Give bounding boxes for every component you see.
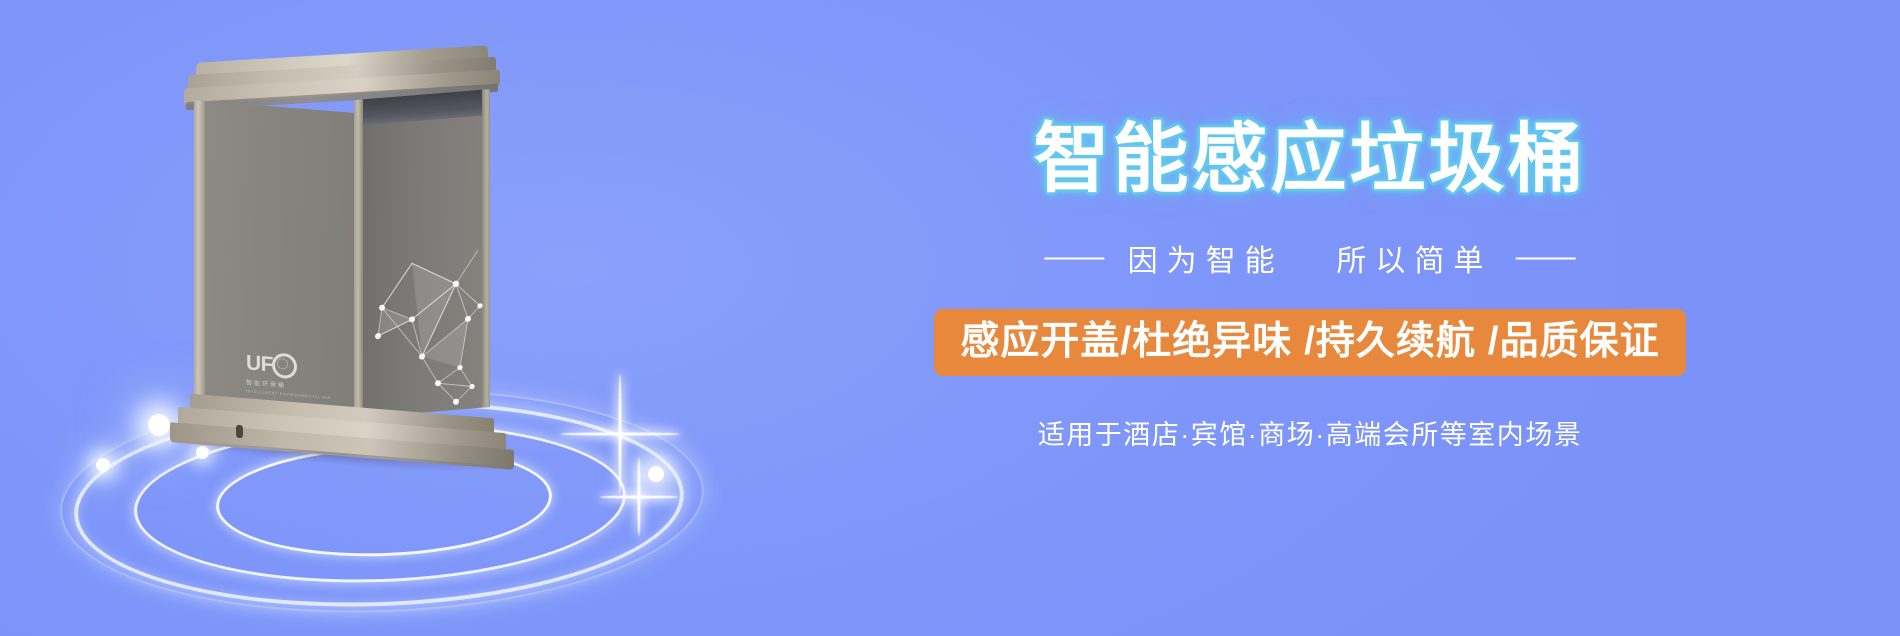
glow-dot-icon [648, 466, 664, 482]
feature-badge-row: 感应开盖/杜绝异味 /持久续航 /品质保证 [860, 277, 1760, 376]
feature-badge: 感应开盖/杜绝异味 /持久续航 /品质保证 [934, 309, 1685, 376]
bin-base [168, 406, 516, 468]
headline: 智能感应垃圾桶 [860, 100, 1760, 198]
subline: —— 因为智能 所以简单 —— [860, 198, 1760, 277]
subline-rule-right: —— [1510, 242, 1582, 272]
bin-base-keyhole-icon [236, 425, 243, 439]
subline-part-one: 因为智能 [1128, 245, 1284, 278]
logo-wordmark-text: UF [246, 352, 273, 375]
glow-dot-icon [148, 414, 170, 436]
product-banner: UF 智能环保桶 INTELLIGENT ENVIRONMENTAL BIN 智… [0, 0, 1900, 636]
product-stage: UF 智能环保桶 INTELLIGENT ENVIRONMENTAL BIN [60, 30, 760, 610]
network-constellation-graphic [360, 239, 490, 417]
banner-copy-block: 智能感应垃圾桶 —— 因为智能 所以简单 —— 感应开盖/杜绝异味 /持久续航 … [860, 100, 1760, 500]
footline: 适用于酒店·宾馆·商场·高端会所等室内场景 [860, 376, 1760, 449]
bin-corner-trim-left [194, 100, 205, 419]
circle-ring-icon [272, 352, 297, 379]
trash-bin-product-image: UF 智能环保桶 INTELLIGENT ENVIRONMENTAL BIN [194, 54, 490, 444]
glow-dot-icon [96, 458, 110, 472]
subline-rule-left: —— [1038, 242, 1110, 272]
subline-part-two: 所以简单 [1336, 245, 1492, 278]
bin-side-face [354, 89, 490, 418]
